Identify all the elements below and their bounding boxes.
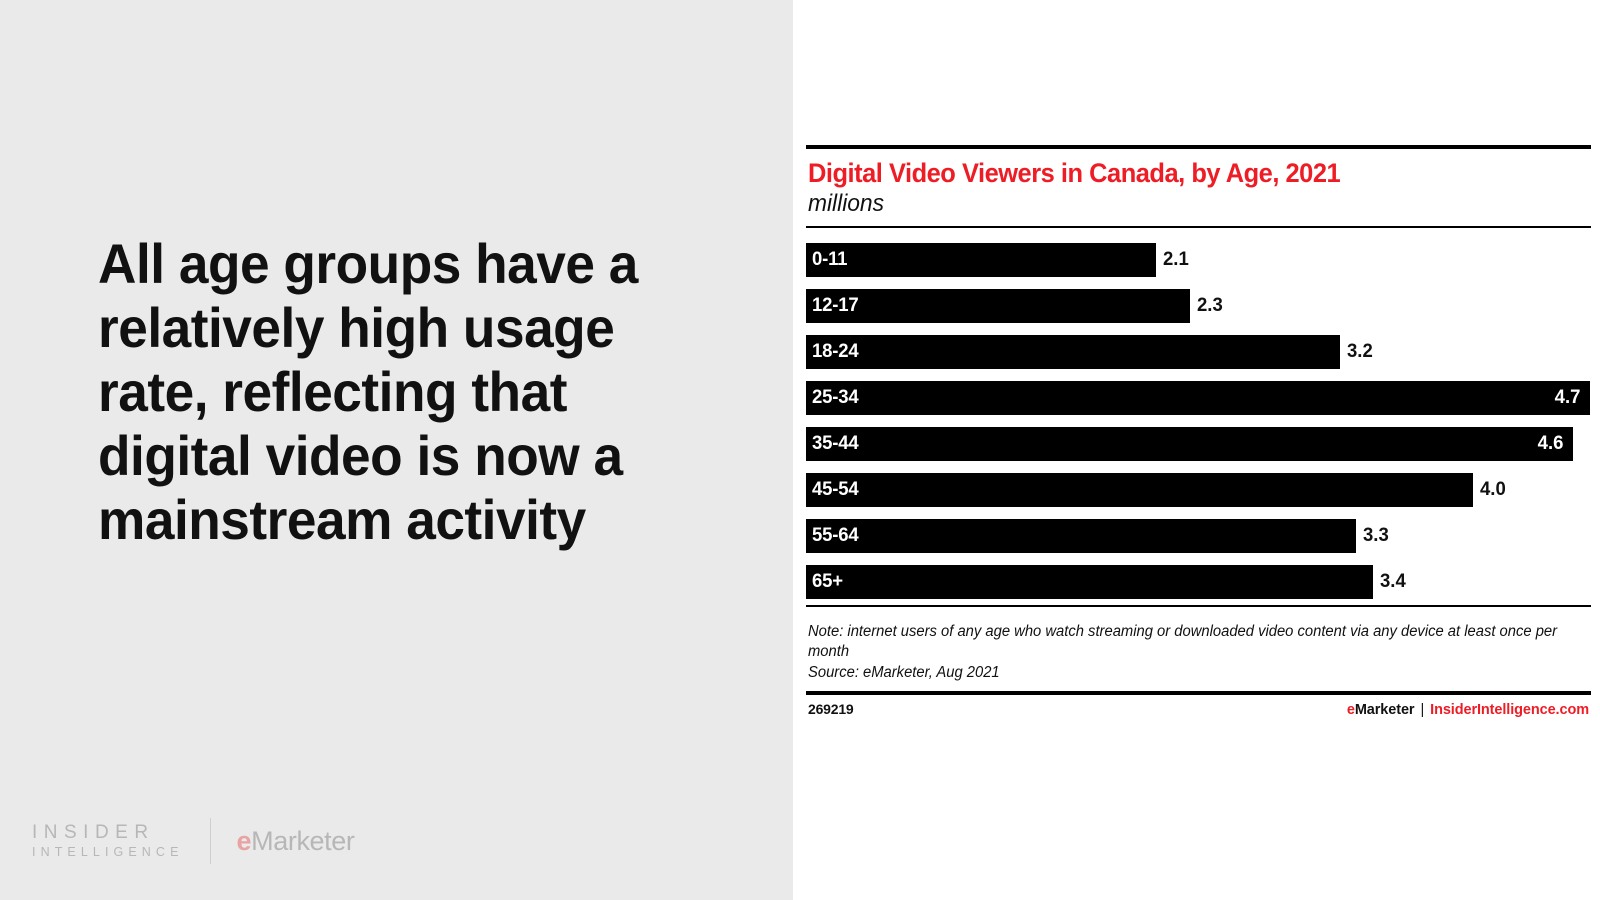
chart-id-number: 269219 <box>808 701 854 717</box>
bar-12-17[interactable]: 12-17 <box>806 289 1190 323</box>
chart-subtitle: millions <box>808 190 1552 218</box>
emarketer-logo-wordmark: Marketer <box>251 826 354 856</box>
bar-value-label: 4.7 <box>1555 386 1581 409</box>
chart-card: Digital Video Viewers in Canada, by Age,… <box>806 145 1591 718</box>
bar-category-label: 65+ <box>812 570 843 593</box>
bar-55-64[interactable]: 55-64 <box>806 519 1356 553</box>
bar-chart-plot-area: 0-112.112-172.318-243.225-344.735-444.64… <box>806 228 1591 605</box>
bar-category-label: 35-44 <box>812 432 858 455</box>
headline-panel: All age groups have a relatively high us… <box>0 0 793 900</box>
bar-row: 45-544.0 <box>806 467 1591 513</box>
bar-category-label: 25-34 <box>812 386 858 409</box>
bar-row: 25-344.7 <box>806 375 1591 421</box>
footer-separator: | <box>1414 702 1430 718</box>
brand-divider <box>210 818 211 864</box>
bar-value-label: 3.2 <box>1347 340 1373 363</box>
bar-row: 12-172.3 <box>806 283 1591 329</box>
footer-emarketer-wordmark: Marketer <box>1355 702 1415 718</box>
bar-category-label: 55-64 <box>812 524 858 547</box>
emarketer-logo-e: e <box>237 826 252 856</box>
footer-website-link[interactable]: InsiderIntelligence.com <box>1430 702 1589 718</box>
chart-note: Note: internet users of any age who watc… <box>808 616 1560 663</box>
bar-category-label: 18-24 <box>812 340 858 363</box>
chart-top-rule <box>806 145 1591 149</box>
bar-45-54[interactable]: 45-54 <box>806 473 1473 507</box>
bar-row: 18-243.2 <box>806 329 1591 375</box>
bar-category-label: 0-11 <box>812 248 847 271</box>
emarketer-logo: eMarketer <box>237 826 355 857</box>
page-title: All age groups have a relatively high us… <box>98 232 697 552</box>
bar-value-label: 2.3 <box>1197 294 1223 317</box>
bar-row: 65+3.4 <box>806 559 1591 605</box>
bar-0-11[interactable]: 0-11 <box>806 243 1156 277</box>
chart-title: Digital Video Viewers in Canada, by Age,… <box>808 157 1560 189</box>
slide-root: All age groups have a relatively high us… <box>0 0 1600 900</box>
bar-35-44[interactable]: 35-444.6 <box>806 427 1573 461</box>
bar-18-24[interactable]: 18-24 <box>806 335 1340 369</box>
chart-footer-rule <box>806 605 1591 607</box>
chart-panel: Digital Video Viewers in Canada, by Age,… <box>793 0 1600 900</box>
insider-intelligence-logo: INSIDER INTELLIGENCE <box>32 822 184 860</box>
chart-footer: 269219 eMarketer|InsiderIntelligence.com <box>806 701 1591 718</box>
bar-65+[interactable]: 65+ <box>806 565 1373 599</box>
bar-row: 0-112.1 <box>806 237 1591 283</box>
insider-intelligence-logo-line1: INSIDER <box>32 822 184 844</box>
bar-value-label: 4.6 <box>1538 432 1564 455</box>
chart-source: Source: eMarketer, Aug 2021 <box>808 663 1560 684</box>
bar-category-label: 45-54 <box>812 478 858 501</box>
footer-brand: eMarketer|InsiderIntelligence.com <box>1347 702 1589 718</box>
bar-value-label: 4.0 <box>1480 478 1506 501</box>
footer-emarketer-e: e <box>1347 702 1355 718</box>
brand-lockup: INSIDER INTELLIGENCE eMarketer <box>32 820 354 862</box>
bar-value-label: 3.4 <box>1380 570 1406 593</box>
insider-intelligence-logo-line2: INTELLIGENCE <box>32 844 184 860</box>
chart-bottom-rule <box>806 691 1591 695</box>
chart-notes: Note: internet users of any age who watc… <box>806 616 1591 684</box>
bar-category-label: 12-17 <box>812 294 858 317</box>
bar-25-34[interactable]: 25-344.7 <box>806 381 1590 415</box>
bar-value-label: 2.1 <box>1163 248 1189 271</box>
bar-row: 35-444.6 <box>806 421 1591 467</box>
bar-value-label: 3.3 <box>1363 524 1389 547</box>
bar-row: 55-643.3 <box>806 513 1591 559</box>
